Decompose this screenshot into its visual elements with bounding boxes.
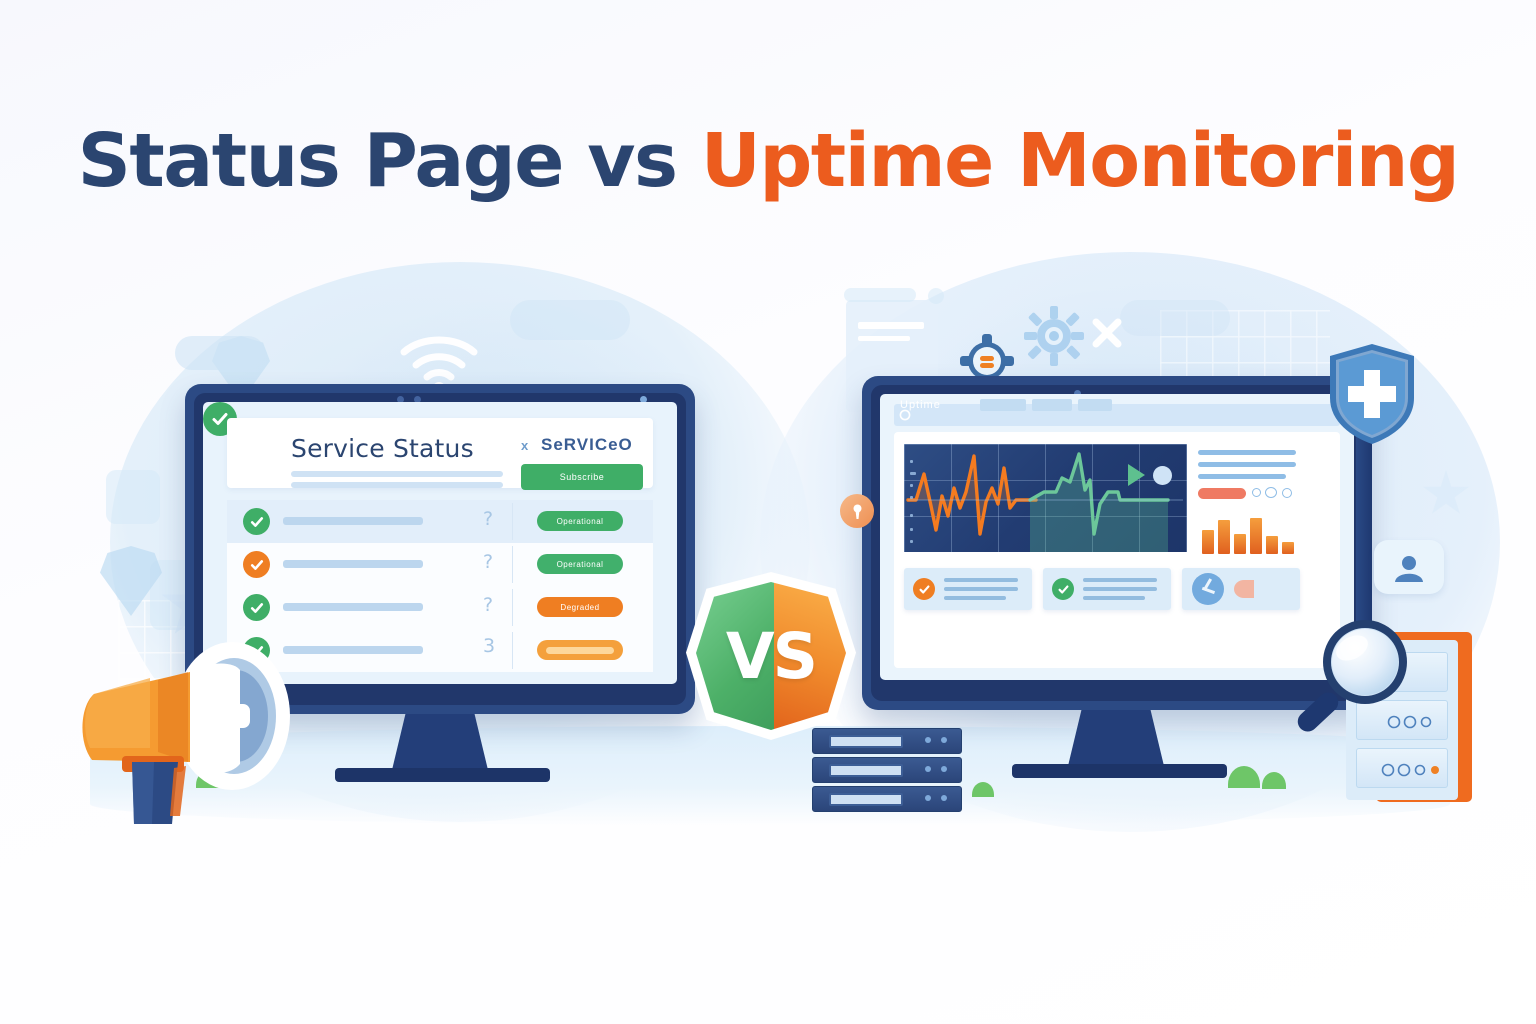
row-status-badge[interactable] — [537, 640, 623, 660]
response-time-chart — [904, 444, 1187, 552]
status-dot-icon — [1153, 466, 1172, 485]
server-unit — [812, 728, 962, 754]
vs-badge: VS — [686, 572, 856, 740]
row-check-icon — [243, 594, 270, 621]
gauge-tab — [1234, 580, 1254, 598]
status-ring-icon — [1265, 487, 1277, 498]
left-monitor-neck — [392, 714, 488, 770]
service-row[interactable]: ? Degraded — [227, 586, 653, 629]
gauge-card[interactable] — [1182, 568, 1300, 610]
card-line — [944, 578, 1018, 582]
title-left: Status Page vs — [78, 118, 701, 204]
mini-bar — [1250, 518, 1262, 554]
row-divider — [512, 632, 513, 669]
card-check-icon — [1052, 578, 1074, 600]
gauge-needle — [1202, 587, 1215, 594]
server-led — [925, 737, 931, 743]
card-line — [1083, 578, 1157, 582]
server-slot — [829, 735, 903, 748]
row-value: ? — [483, 594, 493, 616]
axis-tick — [910, 528, 913, 531]
server-unit — [812, 786, 962, 812]
toolbar-segment — [980, 399, 1026, 411]
row-name-skeleton — [283, 560, 423, 568]
axis-tick — [910, 484, 913, 487]
row-status-badge[interactable]: Degraded — [537, 597, 623, 617]
axis-tick — [910, 496, 913, 499]
side-skeleton-line — [1198, 450, 1296, 455]
server-stack-icon — [812, 728, 967, 814]
row-value: ? — [483, 551, 493, 573]
server-led — [925, 766, 931, 772]
title-right: Uptime Monitoring — [701, 118, 1459, 204]
decor-cloud-1 — [175, 336, 265, 370]
mini-bar — [1202, 530, 1214, 554]
decor-square-2 — [106, 470, 160, 524]
axis-tick — [910, 540, 913, 543]
side-skeleton-line — [1198, 462, 1296, 467]
server-slot — [829, 793, 903, 806]
decor-dot-top — [928, 288, 944, 304]
left-monitor-base — [335, 768, 550, 782]
row-name-skeleton — [283, 517, 423, 525]
axis-tick — [910, 472, 916, 475]
row-divider — [512, 503, 513, 540]
card-line — [944, 596, 1006, 600]
decor-cloud-2 — [510, 300, 630, 340]
decor-document-line — [858, 336, 910, 341]
vs-label: VS — [686, 572, 856, 740]
mini-bar — [1266, 536, 1278, 554]
row-name-skeleton — [283, 603, 423, 611]
circle-icon — [899, 409, 911, 421]
status-card[interactable] — [904, 568, 1032, 610]
toolbar-segment — [1078, 399, 1112, 411]
service-row[interactable]: ? Operational — [227, 500, 653, 543]
megaphone-icon — [62, 636, 322, 826]
status-ring-icon — [1252, 488, 1261, 497]
side-skeleton-line — [1198, 474, 1286, 479]
header-skeleton-line — [291, 471, 503, 477]
server-led — [941, 795, 947, 801]
status-ring-icon — [1282, 488, 1292, 498]
decor-pill-top — [844, 288, 916, 302]
mini-bar — [1218, 520, 1230, 554]
row-check-icon — [243, 508, 270, 535]
card-line — [1083, 587, 1157, 591]
card-check-icon — [913, 578, 935, 600]
alert-pill — [1198, 488, 1246, 499]
server-led — [941, 737, 947, 743]
rack-unit — [1356, 748, 1448, 788]
avatar-icon — [1392, 552, 1426, 584]
card-line — [1083, 596, 1145, 600]
rack-leds — [1381, 763, 1441, 777]
illustration-canvas: Service Status x SeRVICeO Subscribe ? Op… — [0, 0, 1536, 1024]
row-check-icon — [243, 551, 270, 578]
chart-side-panel — [1196, 446, 1300, 554]
play-triangle-icon[interactable] — [1128, 464, 1145, 486]
server-led — [941, 766, 947, 772]
mini-bar — [1234, 534, 1246, 554]
dashboard-toolbar — [894, 404, 1340, 426]
shield-cross-icon — [1326, 342, 1418, 446]
card-line — [944, 587, 1018, 591]
server-unit — [812, 757, 962, 783]
brand-label: SeRVICeO — [541, 435, 633, 455]
gear-icon — [1024, 306, 1084, 366]
subscribe-badge[interactable]: Subscribe — [521, 464, 643, 490]
right-screen: Uptime — [880, 394, 1354, 680]
service-row[interactable]: ? Operational — [227, 543, 653, 586]
axis-tick — [910, 460, 913, 463]
mini-bar — [1282, 542, 1294, 554]
right-monitor-base — [1012, 764, 1227, 778]
row-value: ? — [483, 508, 493, 530]
row-status-badge[interactable]: Operational — [537, 554, 623, 574]
toolbar-segment — [1032, 399, 1072, 411]
lock-badge-icon — [840, 494, 874, 528]
row-status-badge[interactable]: Operational — [537, 511, 623, 531]
row-value: 3 — [483, 635, 495, 657]
close-x-icon — [1090, 316, 1124, 350]
page-title: Service Status — [291, 434, 474, 463]
decor-cloud-4 — [1120, 300, 1230, 336]
axis-tick — [910, 514, 913, 517]
server-led — [925, 795, 931, 801]
magnifying-glass-icon — [1292, 614, 1412, 739]
header-skeleton-line — [291, 482, 503, 488]
brand-mark-x: x — [521, 438, 529, 453]
gauge-icon — [1192, 573, 1224, 605]
row-divider — [512, 589, 513, 626]
page-title-wrap: Status Page vs Uptime Monitoring — [0, 118, 1536, 204]
chart-series — [904, 444, 1187, 552]
right-monitor-neck — [1068, 710, 1164, 766]
decor-document-line — [858, 322, 924, 329]
server-slot — [829, 764, 903, 777]
status-card[interactable] — [1043, 568, 1171, 610]
row-divider — [512, 546, 513, 583]
